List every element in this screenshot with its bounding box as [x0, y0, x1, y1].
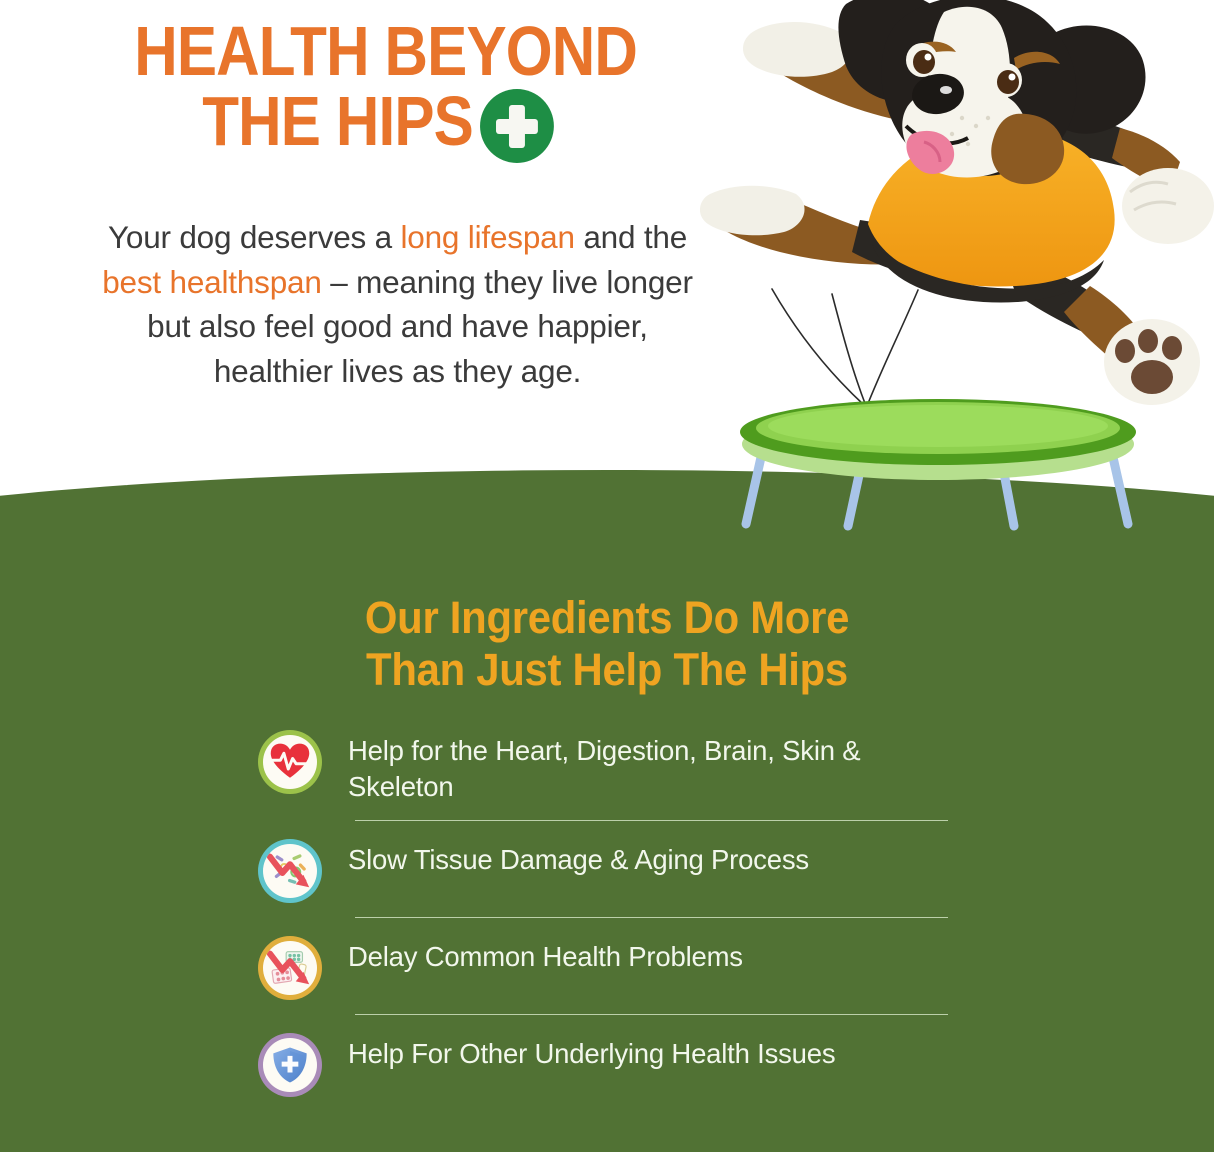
paragraph-highlight-lifespan: long lifespan	[401, 219, 575, 255]
hero-paragraph: Your dog deserves a long lifespan and th…	[100, 215, 695, 394]
section-title-line-2: Than Just Help The Hips	[42, 644, 1171, 696]
benefits-list: Help for the Heart, Digestion, Brain, Sk…	[258, 726, 958, 1097]
declining-arrow-cells-icon	[258, 839, 322, 903]
list-item: Help For Other Underlying Health Issues	[258, 1029, 958, 1097]
paragraph-seg-1: Your dog deserves a	[108, 219, 401, 255]
infographic-canvas: HEALTH BEYOND THE HIPS Your dog deserves…	[0, 0, 1214, 1152]
list-item: Delay Common Health Problems	[258, 932, 958, 1000]
section-title: Our Ingredients Do More Than Just Help T…	[0, 592, 1214, 696]
list-separator	[355, 917, 948, 918]
list-item: Slow Tissue Damage & Aging Process	[258, 835, 958, 903]
list-item-label: Help for the Heart, Digestion, Brain, Sk…	[348, 726, 948, 806]
list-item-label: Delay Common Health Problems	[348, 932, 743, 975]
paragraph-highlight-healthspan: best healthspan	[102, 264, 321, 300]
list-item-label: Slow Tissue Damage & Aging Process	[348, 835, 809, 878]
trampoline-illustration	[728, 392, 1168, 542]
list-separator	[355, 820, 948, 821]
list-item: Help for the Heart, Digestion, Brain, Sk…	[258, 726, 958, 806]
declining-arrow-pills-icon	[258, 936, 322, 1000]
paragraph-seg-2: and the	[575, 219, 687, 255]
headline-line-1: HEALTH BEYOND	[134, 18, 616, 85]
shield-plus-icon	[258, 1033, 322, 1097]
list-separator	[355, 1014, 948, 1015]
medical-cross-icon	[479, 89, 553, 163]
section-title-line-1: Our Ingredients Do More	[42, 592, 1171, 644]
bernese-mountain-dog-puppy-jumping-illustration	[700, 0, 1214, 424]
heart-ecg-icon	[258, 730, 322, 794]
headline-line-2: THE HIPS	[202, 88, 473, 155]
headline-line-2-row: THE HIPS	[202, 85, 548, 159]
list-item-label: Help For Other Underlying Health Issues	[348, 1029, 835, 1072]
hero-headline: HEALTH BEYOND THE HIPS	[95, 18, 655, 159]
